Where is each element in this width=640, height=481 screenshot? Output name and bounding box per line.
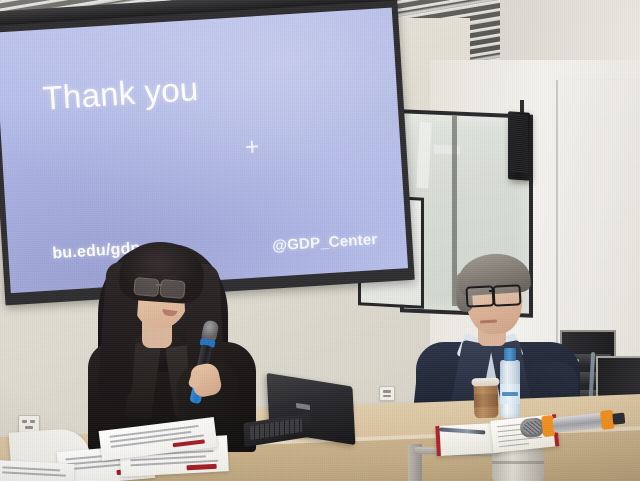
panelist-eyeglass-right bbox=[492, 284, 521, 306]
presenter-eyeglass-right bbox=[159, 279, 185, 299]
coffee-cup-sleeve bbox=[474, 394, 498, 408]
panelist-eyeglass-bridge bbox=[489, 290, 495, 292]
slide-social-handle: @GDP_Center bbox=[272, 231, 378, 255]
water-bottle[interactable] bbox=[500, 348, 520, 418]
coffee-cup-lid bbox=[471, 378, 499, 387]
wall-speaker bbox=[508, 111, 530, 181]
wall-outlet-middle[interactable] bbox=[379, 386, 395, 401]
presenter-eyeglass-bridge bbox=[156, 284, 162, 286]
flyer-sheet[interactable] bbox=[0, 460, 75, 481]
bottle-cap[interactable] bbox=[504, 348, 516, 361]
presenter-person bbox=[86, 238, 266, 438]
slide-title: Thank you bbox=[41, 70, 199, 118]
presenter-eyeglass-left bbox=[133, 277, 159, 297]
photo-scene: Thank you bu.edu/gdp @GDP_Center bbox=[0, 0, 640, 481]
slide-cursor-icon bbox=[246, 140, 259, 153]
coffee-cup[interactable] bbox=[474, 382, 499, 419]
panelist-eyeglass-left bbox=[465, 285, 494, 307]
laptop[interactable] bbox=[244, 380, 354, 446]
